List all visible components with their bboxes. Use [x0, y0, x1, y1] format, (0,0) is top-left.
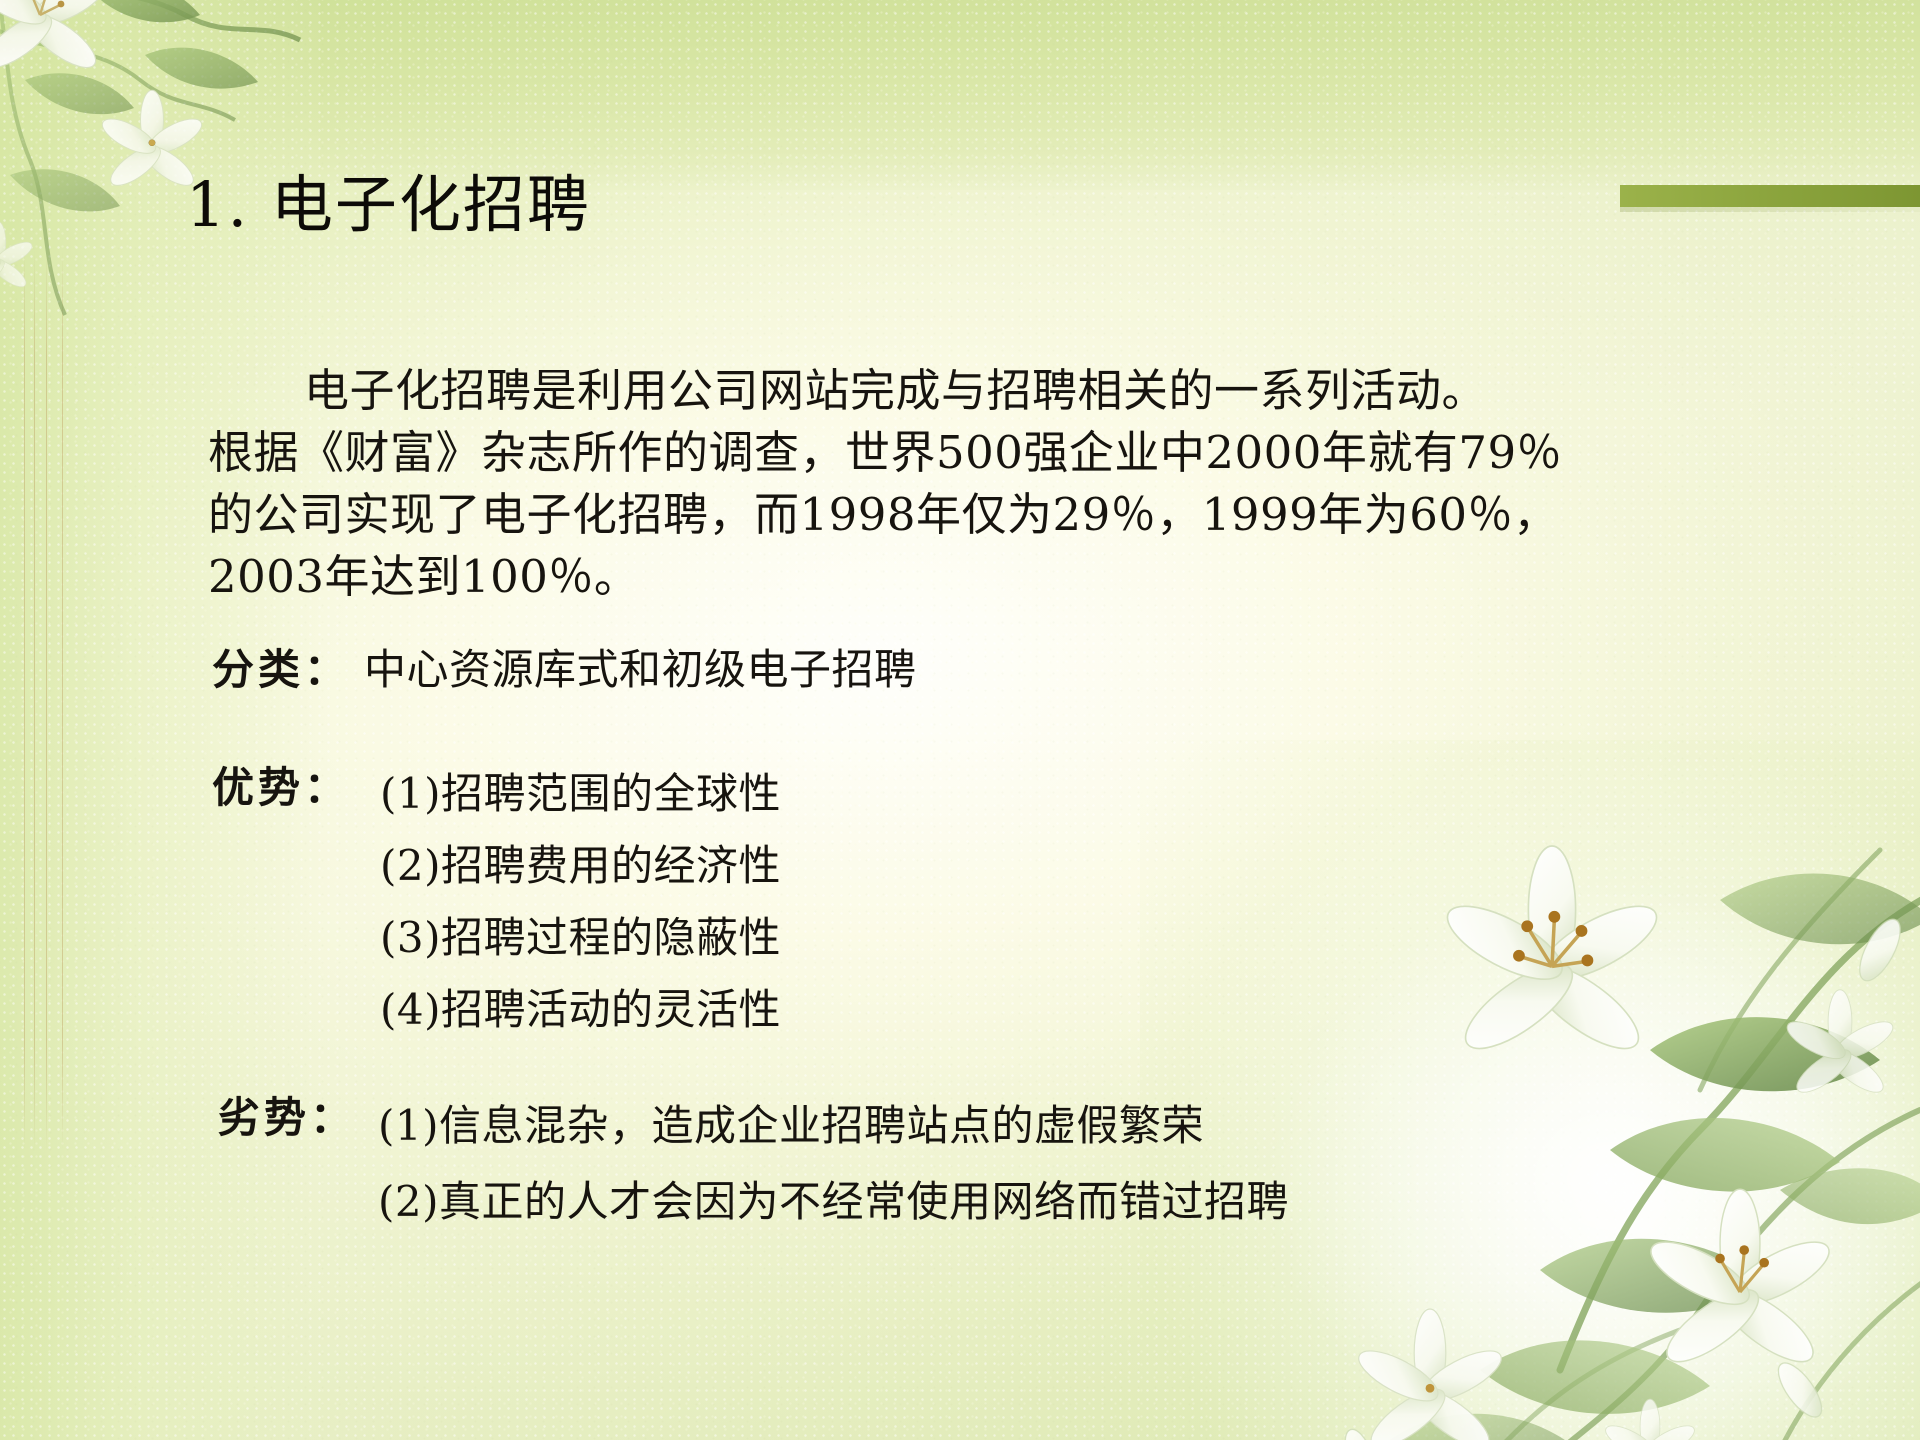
disadvantages-block: 劣势： (1)信息混杂，造成企业招聘站点的虚假繁荣 (2)真正的人才会因为不经常… [218, 1088, 1289, 1240]
presentation-slide: 1. 电子化招聘 电子化招聘是利用公司网站完成与招聘相关的一系列活动。 根据《财… [0, 0, 1920, 1440]
advantages-label: 优势： [212, 758, 350, 818]
disadvantages-label: 劣势： [218, 1088, 356, 1148]
slide-content: 1. 电子化招聘 电子化招聘是利用公司网站完成与招聘相关的一系列活动。 根据《财… [0, 0, 1920, 1440]
list-item: (4)招聘活动的灵活性 [380, 974, 781, 1046]
advantages-block: 优势： (1)招聘范围的全球性 (2)招聘费用的经济性 (3)招聘过程的隐蔽性 … [212, 758, 781, 1046]
advantages-list: (1)招聘范围的全球性 (2)招聘费用的经济性 (3)招聘过程的隐蔽性 (4)招… [380, 758, 781, 1046]
list-item: (1)招聘范围的全球性 [380, 758, 781, 830]
paragraph-line: 根据《财富》杂志所作的调查，世界500强企业中2000年就有79％ [208, 422, 1768, 484]
paragraph-line: 2003年达到100％。 [208, 546, 1768, 608]
category-block: 分类： 中心资源库式和初级电子招聘 [212, 640, 917, 700]
category-text: 中心资源库式和初级电子招聘 [364, 640, 917, 700]
list-item: (2)真正的人才会因为不经常使用网络而错过招聘 [378, 1164, 1289, 1240]
page-title: 1. 电子化招聘 [186, 168, 591, 241]
paragraph-line: 的公司实现了电子化招聘，而1998年仅为29％，1999年为60％， [208, 484, 1768, 546]
category-label: 分类： [212, 640, 350, 700]
disadvantages-list: (1)信息混杂，造成企业招聘站点的虚假繁荣 (2)真正的人才会因为不经常使用网络… [378, 1088, 1289, 1240]
list-item: (2)招聘费用的经济性 [380, 830, 781, 902]
list-item: (3)招聘过程的隐蔽性 [380, 902, 781, 974]
list-item: (1)信息混杂，造成企业招聘站点的虚假繁荣 [378, 1088, 1289, 1164]
category-text-wrapper: 中心资源库式和初级电子招聘 [364, 640, 917, 700]
paragraph-line: 电子化招聘是利用公司网站完成与招聘相关的一系列活动。 [208, 360, 1768, 422]
intro-paragraph: 电子化招聘是利用公司网站完成与招聘相关的一系列活动。 根据《财富》杂志所作的调查… [208, 360, 1768, 608]
